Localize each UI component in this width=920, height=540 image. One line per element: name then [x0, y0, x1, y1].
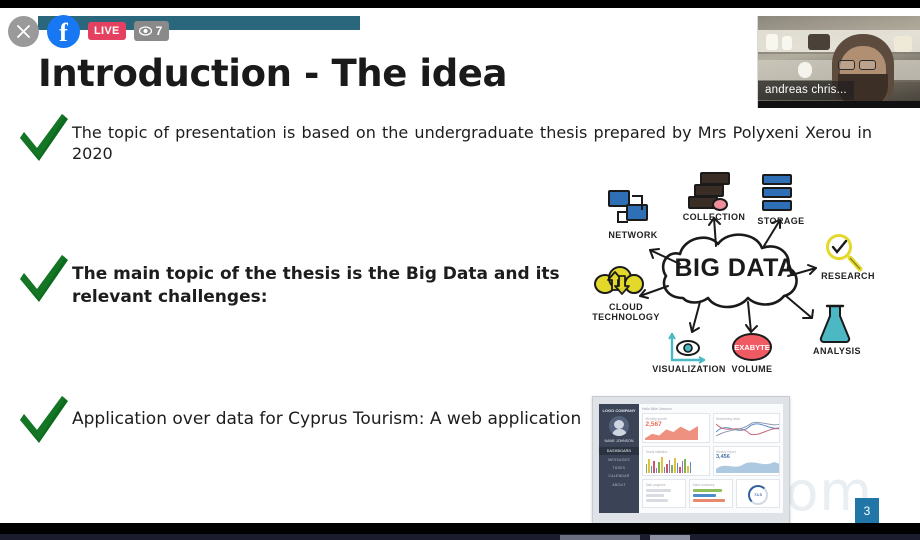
dashboard-nav-item: DASHBOARD	[599, 447, 639, 455]
dashboard-greeting: Hello Mike Johnson	[642, 407, 780, 411]
dashboard-card: Yearly statistics	[642, 446, 710, 476]
dashboard-card: Task progress	[642, 479, 686, 508]
stacked-servers-icon	[688, 172, 738, 210]
viewer-count: 7	[134, 21, 170, 41]
diagram-center-label: BIG DATA	[670, 254, 800, 283]
list-item: The topic of presentation is based on th…	[14, 112, 874, 168]
dashboard-nav-item: TASKS	[599, 464, 639, 472]
diagram-node-label: STORAGE	[748, 216, 814, 226]
close-icon[interactable]	[8, 16, 39, 47]
viewer-count-value: 7	[156, 24, 163, 38]
list-item: The main topic of the thesis is the Big …	[14, 253, 574, 309]
video-background	[782, 36, 792, 50]
status-badge: LIVE	[88, 22, 126, 40]
diagram-node-label: RESEARCH	[816, 271, 880, 281]
participant-name-label: andreas chris...	[758, 81, 854, 100]
video-background	[808, 34, 830, 50]
zoom-screenshare-window: Introduction - The idea The topic of pre…	[0, 0, 920, 540]
dashboard-card-value: 74.5	[750, 487, 766, 503]
exabyte-label: EXABYTE	[734, 343, 769, 352]
dashboard-nav-item: CALENDAR	[599, 472, 639, 480]
dashboard-nav-item: MESSAGES	[599, 455, 639, 463]
list-item-text: The main topic of the thesis is the Big …	[72, 253, 574, 308]
diagram-node-label: VISUALIZATION	[650, 364, 728, 374]
flask-icon	[816, 304, 856, 344]
glasses-icon	[859, 60, 876, 70]
dashboard-card: Monthly growth 2,567	[642, 413, 710, 443]
chart-eye-icon	[664, 332, 712, 366]
green-check-icon	[14, 108, 72, 168]
diagram-node-label: CLOUD TECHNOLOGY	[588, 302, 664, 323]
diagram-node-label: COLLECTION	[674, 212, 754, 222]
window-top-bar	[0, 0, 920, 8]
taskbar-strip	[0, 534, 920, 540]
list-item-text: The topic of presentation is based on th…	[72, 112, 872, 165]
video-background	[798, 62, 812, 78]
dashboard-card: Sales summary	[689, 479, 733, 508]
dashboard-card: Networking visits	[713, 413, 781, 443]
list-item-text: Application over data for Cyprus Tourism…	[72, 394, 581, 431]
dashboard-card-title: Task progress	[646, 483, 683, 487]
exabyte-ellipse-icon: EXABYTE	[732, 333, 772, 361]
donut-chart: 74.5	[748, 485, 768, 505]
diagram-node-label: ANALYSIS	[806, 346, 868, 356]
network-monitors-icon	[608, 190, 658, 228]
dashboard-card: Weekly report 3,456	[713, 446, 781, 476]
dashboard-mockup-image: LOGO COMPANY NAME JOHNSON DASHBOARD MESS…	[592, 396, 790, 523]
green-check-icon	[14, 249, 72, 309]
taskbar-item[interactable]	[560, 535, 640, 540]
server-rack-icon	[760, 174, 800, 214]
dashboard-logo: LOGO COMPANY	[599, 408, 639, 413]
bar-chart	[646, 456, 707, 473]
page-number-badge: 3	[855, 498, 879, 523]
dashboard-card-title: Yearly statistics	[646, 450, 707, 454]
glasses-icon	[838, 60, 855, 70]
taskbar-item[interactable]	[650, 535, 690, 540]
dashboard-sidebar: LOGO COMPANY NAME JOHNSON DASHBOARD MESS…	[599, 404, 639, 513]
facebook-logo-icon[interactable]: f	[47, 15, 80, 48]
page-title: Introduction - The idea	[38, 52, 507, 95]
dashboard-card-title: Sales summary	[693, 483, 730, 487]
video-background	[894, 36, 912, 52]
dashboard-nav-item: ABOUT	[599, 481, 639, 489]
eye-icon	[139, 26, 152, 36]
presentation-slide: Introduction - The idea The topic of pre…	[0, 8, 920, 523]
dashboard-card: 74.5	[736, 479, 780, 508]
facebook-live-toolbar: f LIVE 7	[8, 16, 169, 46]
list-item: Application over data for Cyprus Tourism…	[14, 394, 584, 450]
green-check-icon	[14, 390, 72, 450]
cloud-arrows-icon	[594, 264, 646, 300]
magnifier-check-icon	[824, 234, 864, 274]
avatar	[609, 416, 629, 436]
big-data-diagram: BIG DATA NETWORK COLLECTION	[588, 168, 886, 378]
participant-video-thumbnail[interactable]: andreas chris...	[757, 16, 920, 108]
video-letterbox	[758, 101, 920, 108]
diagram-node-label: VOLUME	[722, 364, 782, 374]
facebook-glyph: f	[59, 18, 68, 48]
diagram-node-label: NETWORK	[596, 230, 670, 240]
dashboard-username: NAME JOHNSON	[599, 439, 639, 443]
dashboard-main: Hello Mike Johnson Monthly growth 2,567 …	[639, 404, 783, 513]
video-background	[766, 34, 778, 50]
dashboard-nav: DASHBOARD MESSAGES TASKS CALENDAR ABOUT	[599, 447, 639, 489]
